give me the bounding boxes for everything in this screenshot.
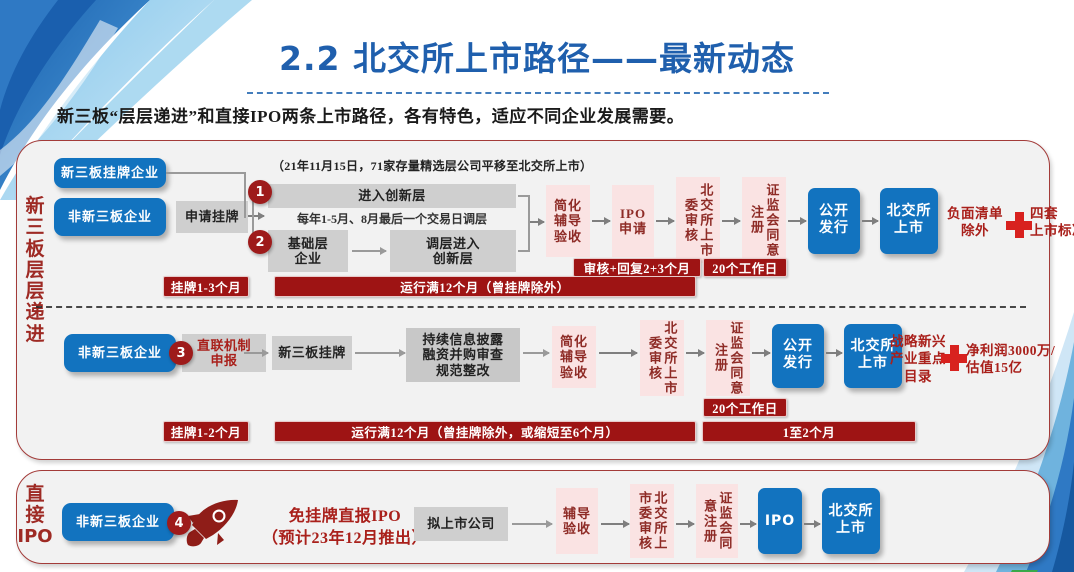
track2-step-csrc-registration[interactable]: 证监会同意注册 [706, 320, 750, 396]
track3-badge-4: 4 [167, 511, 191, 535]
side-label-char: 层 [22, 260, 48, 281]
track2-direct-line2: 申报 [210, 353, 237, 368]
panel-ipo-side-label: 直 接 IPO [16, 484, 54, 547]
track1-chip-running-months: 运行满12个月（曾挂牌除外） [274, 276, 696, 297]
track2-counsel-line1: 简化 [560, 334, 588, 349]
track1-step-enter-innovation[interactable]: 进入创新层 [268, 184, 516, 208]
track3-counsel-line2: 验收 [563, 521, 591, 536]
track2-annot-right-line1: 净利润3000万/ [966, 342, 1066, 359]
track1-step-ipo-application[interactable]: IPO 申请 [612, 185, 654, 257]
track1-arrow-apply [248, 215, 264, 217]
track2-arrow-2 [523, 352, 549, 354]
track3-entry-nonlisted-company[interactable]: 非新三板企业 [62, 503, 174, 541]
track3-headline-line1: 免挂牌直报IPO [250, 506, 440, 528]
track3-listed-line2: 上市 [836, 521, 866, 538]
track3-arrow-5 [804, 523, 820, 525]
track2-counsel-line3: 验收 [560, 365, 588, 380]
track1-connector-top [166, 172, 246, 174]
track2-annot-profit-valuation: 净利润3000万/ 估值15亿 [966, 342, 1066, 377]
track3-step-csrc-registration[interactable]: 证监会同意注册 [696, 484, 738, 558]
track2-step-ongoing-compliance[interactable]: 持续信息披露 融资并购审查 规范整改 [406, 328, 520, 382]
track1-annot-left-line1: 负面清单 [944, 205, 1006, 222]
track1-chip-listing-months: 挂牌1-3个月 [163, 276, 249, 297]
page-title: 2.2 北交所上市路径——最新动态 [0, 32, 1074, 80]
track2-counsel-line2: 辅导 [560, 349, 588, 364]
track1-step-adjust-line2: 创新层 [433, 251, 474, 266]
track2-annot-right-line2: 估值15亿 [966, 359, 1066, 376]
track1-annot-standards: 四套 上市标准 [1030, 205, 1074, 240]
track2-arrow-3 [599, 352, 637, 354]
track1-step-simplified-counseling[interactable]: 简化 辅导 验收 [546, 185, 590, 257]
track3-listed-line1: 北交所 [829, 504, 874, 521]
track2-arrow-5 [752, 352, 770, 354]
slide-canvas: 2.2 北交所上市路径——最新动态 新三板“层层递进”和直接IPO两条上市路径，… [0, 0, 1074, 572]
track1-merge-vert [528, 195, 530, 252]
track2-chip-one-to-two-months: 1至2个月 [702, 421, 916, 442]
track1-step-csrc-registration[interactable]: 证监会同意注册 [742, 177, 786, 263]
track1-annot-negative-list: 负面清单 除外 [944, 205, 1006, 240]
track1-ipo-line2: 申请 [619, 221, 647, 236]
track1-arrow-merge-out [530, 221, 544, 223]
track1-arrow-5 [862, 220, 878, 222]
track3-headline-line2: （预计23年12月推出） [250, 528, 440, 550]
track2-chip-running-months: 运行满12个月（曾挂牌除外，或缩短至6个月） [274, 421, 696, 442]
track1-step-adjust-into-innovation[interactable]: 调层进入 创新层 [390, 230, 516, 272]
track1-step-exchange-review[interactable]: 北交所上市委审核 [676, 177, 720, 263]
track1-badge-2: 2 [248, 230, 272, 254]
track1-listed-line1: 北交所 [887, 204, 932, 221]
track1-step-public-offering[interactable]: 公开 发行 [808, 188, 860, 254]
track2-public-line1: 公开 [783, 339, 813, 356]
rocket-icon [186, 498, 240, 548]
track2-chip-workdays: 20个工作日 [703, 398, 787, 417]
track1-entry-listed-company[interactable]: 新三板挂牌企业 [54, 158, 166, 188]
track2-chip-listing-months: 挂牌1-2个月 [163, 421, 249, 442]
track3-register-text: 证监会同意注册 [702, 484, 733, 558]
track2-step-exchange-review[interactable]: 北交所上市委审核 [640, 320, 684, 396]
plus-icon [941, 345, 963, 367]
track1-step-base-line1: 基础层 [288, 236, 329, 251]
ipo-label-line2: 接 [16, 505, 54, 526]
ipo-label-line1: 直 [16, 484, 54, 505]
side-label-char: 进 [22, 324, 48, 345]
title-divider [247, 92, 829, 94]
track1-counsel-line1: 简化 [554, 198, 582, 213]
ipo-label-line3: IPO [16, 527, 54, 547]
track1-public-line1: 公开 [819, 204, 849, 221]
track3-step-candidate-company[interactable]: 拟上市公司 [414, 507, 508, 541]
track1-arrow-1 [592, 220, 610, 222]
subtitle: 新三板“层层递进”和直接IPO两条上市路径，各有特色，适应不同企业发展需要。 [57, 102, 684, 127]
track1-counsel-line2: 辅导 [554, 213, 582, 228]
track2-review-text: 北交所上市委审核 [647, 320, 678, 396]
track3-step-exchange-review[interactable]: 北交所上市委审核 [630, 484, 674, 558]
track2-ongoing-line3: 规范整改 [436, 363, 490, 378]
track1-badge-1: 1 [248, 180, 272, 204]
track2-step-public-offering[interactable]: 公开 发行 [772, 324, 824, 388]
track1-entry-nonlisted-company[interactable]: 非新三板企业 [54, 198, 166, 236]
track2-step-simplified-counseling[interactable]: 简化 辅导 验收 [552, 326, 596, 388]
track3-arrow-3 [676, 523, 694, 525]
track1-annot-right-line2: 上市标准 [1030, 222, 1074, 239]
track1-review-text: 北交所上市委审核 [683, 177, 714, 263]
track1-register-text: 证监会同意注册 [749, 177, 780, 263]
track1-chip-workdays: 20个工作日 [703, 258, 787, 277]
track1-step-adjust-line1: 调层进入 [426, 236, 480, 251]
track2-register-text: 证监会同意注册 [713, 320, 744, 396]
track2-arrow-1 [355, 352, 405, 354]
track3-step-listed-on-bse[interactable]: 北交所 上市 [822, 488, 880, 554]
track3-step-counseling-acceptance[interactable]: 辅导 验收 [556, 488, 598, 554]
track2-arrow-6 [826, 352, 842, 354]
track1-arrow-2 [656, 220, 674, 222]
track3-counsel-line1: 辅导 [563, 506, 591, 521]
track1-arrow-4 [788, 220, 806, 222]
side-label-char: 新 [22, 196, 48, 217]
track2-ongoing-line1: 持续信息披露 [422, 332, 503, 347]
track2-public-line2: 发行 [783, 356, 813, 373]
plus-icon [1006, 212, 1032, 238]
track3-arrow-2 [601, 523, 629, 525]
track1-note: （21年11月15日，71家存量精选层公司平移至北交所上市） [272, 157, 592, 174]
track1-annot-left-line2: 除外 [944, 222, 1006, 239]
track1-counsel-line3: 验收 [554, 229, 582, 244]
track1-ipo-line1: IPO [620, 206, 646, 221]
track2-ongoing-line2: 融资并购审查 [422, 347, 503, 362]
track1-arrow-3 [722, 220, 740, 222]
track1-apply-listing[interactable]: 申请挂牌 [176, 201, 248, 233]
track1-step-base-line2: 企业 [294, 251, 321, 266]
track2-arrow-0 [244, 352, 268, 354]
track1-annot-right-line1: 四套 [1030, 205, 1074, 222]
track1-connector-vert [244, 172, 246, 218]
panel-main-side-label: 新 三 板 层 层 递 进 [22, 196, 48, 345]
track1-adjust-note: 每年1-5月、8月最后一个交易日调层 [268, 208, 516, 230]
track2-step-listing[interactable]: 新三板挂牌 [272, 336, 352, 370]
track1-step-listed-on-bse[interactable]: 北交所 上市 [880, 188, 938, 254]
side-label-char: 板 [22, 239, 48, 260]
track3-arrow-4 [740, 523, 756, 525]
track2-entry-nonlisted-company[interactable]: 非新三板企业 [64, 334, 176, 372]
side-label-char: 层 [22, 281, 48, 302]
track1-step-base-layer[interactable]: 基础层 企业 [268, 230, 348, 272]
track3-arrow-1 [512, 523, 552, 525]
track3-step-ipo[interactable]: IPO [758, 488, 802, 554]
side-label-char: 三 [22, 217, 48, 238]
track2-badge-3: 3 [169, 341, 193, 365]
track1-public-line2: 发行 [819, 221, 849, 238]
track2-annot-left-line3: 目录 [884, 368, 952, 385]
track1-chip-review-reply: 审核+回复2+3个月 [573, 258, 701, 277]
track2-arrow-4 [686, 352, 704, 354]
track3-headline: 免挂牌直报IPO （预计23年12月推出） [250, 506, 440, 549]
track3-review-text: 北交所上市委审核 [637, 484, 668, 558]
track1-arrow-base-to-adjust [352, 250, 386, 252]
panel-inner-divider [36, 306, 1026, 308]
track1-listed-line2: 上市 [894, 221, 924, 238]
track2-direct-line1: 直联机制 [197, 338, 251, 353]
